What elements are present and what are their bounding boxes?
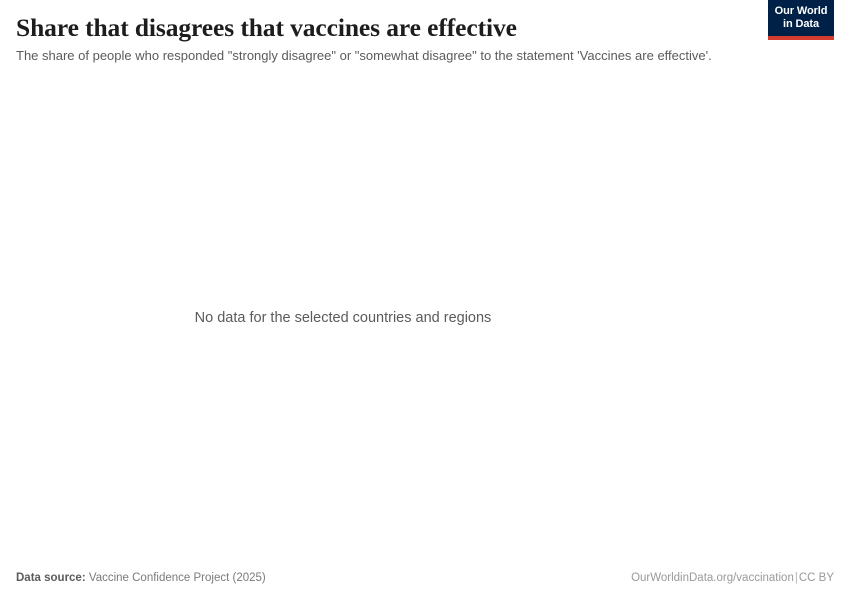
chart-footer: Data source: Vaccine Confidence Project …	[16, 571, 834, 600]
footer-url[interactable]: OurWorldinData.org/vaccination	[631, 572, 794, 584]
footer-license[interactable]: CC BY	[799, 572, 834, 584]
header-text-block: Share that disagrees that vaccines are e…	[16, 13, 742, 65]
logo-line-one: Our World	[772, 5, 830, 18]
chart-header: Share that disagrees that vaccines are e…	[16, 0, 834, 65]
no-data-message: No data for the selected countries and r…	[195, 308, 492, 328]
data-source-label: Data source:	[16, 572, 86, 584]
our-world-in-data-logo[interactable]: Our World in Data	[768, 0, 834, 40]
chart-plot-area: No data for the selected countries and r…	[16, 65, 834, 571]
chart-container: Share that disagrees that vaccines are e…	[0, 0, 850, 600]
data-source-value[interactable]: Vaccine Confidence Project (2025)	[89, 572, 266, 584]
chart-subtitle: The share of people who responded "stron…	[16, 47, 742, 65]
data-source: Data source: Vaccine Confidence Project …	[16, 571, 266, 586]
page-title: Share that disagrees that vaccines are e…	[16, 13, 742, 43]
logo-line-two: in Data	[772, 18, 830, 36]
footer-attribution: OurWorldinData.org/vaccination|CC BY	[631, 571, 834, 586]
